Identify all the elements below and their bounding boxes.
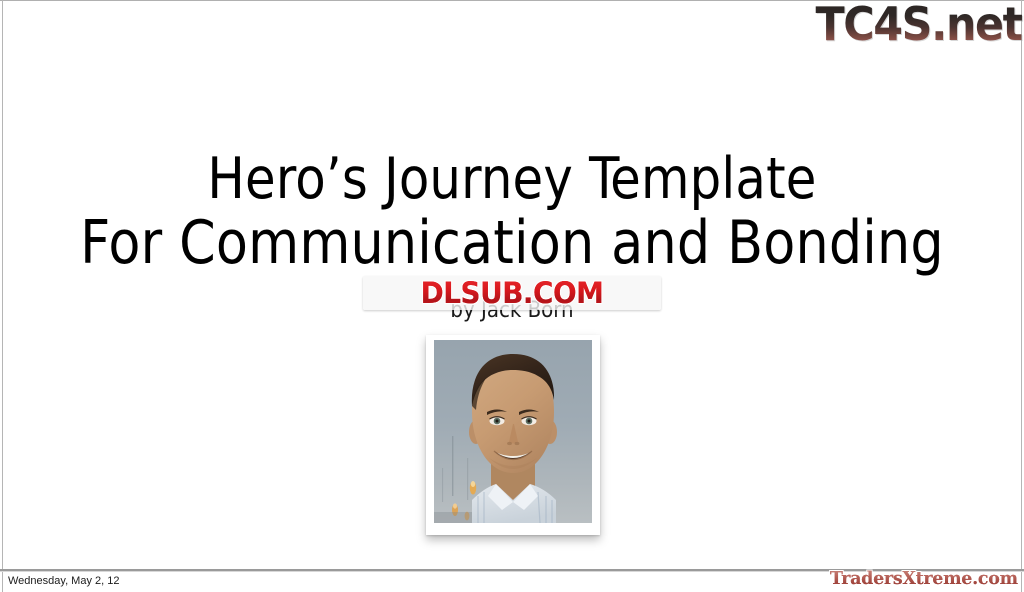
title-line-2: For Communication and Bonding bbox=[15, 210, 1008, 276]
footer-date: Wednesday, May 2, 12 bbox=[8, 574, 120, 588]
watermark-tradersxtreme-text: TradersXtreme.com bbox=[830, 568, 1018, 590]
slide-border-left bbox=[2, 0, 3, 592]
slide-title: Hero’s Journey Template For Communicatio… bbox=[0, 148, 1024, 276]
title-line-1: Hero’s Journey Template bbox=[15, 148, 1008, 210]
speaker-photo-frame bbox=[426, 335, 600, 535]
speaker-portrait-illustration bbox=[434, 340, 592, 523]
watermark-dlsub: DLSUB.COM DLSUB.COM bbox=[363, 276, 661, 310]
watermark-tc4s-text: TC4S.net bbox=[816, 0, 1022, 50]
watermark-dlsub-text: DLSUB.COM bbox=[369, 277, 655, 309]
slide-border-right bbox=[1021, 0, 1022, 592]
speaker-photo bbox=[434, 340, 592, 523]
presentation-slide: TC4S.net TC4S.net Hero’s Journey Templat… bbox=[0, 0, 1024, 592]
